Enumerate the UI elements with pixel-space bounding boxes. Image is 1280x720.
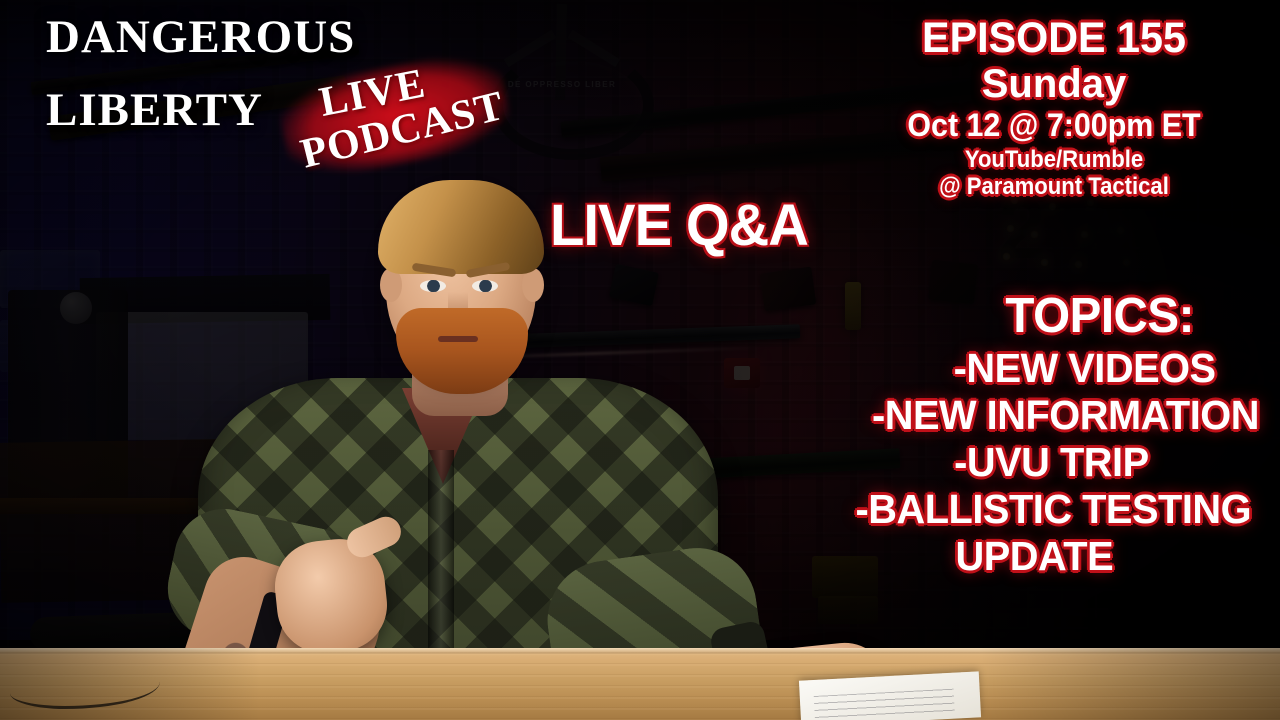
topics-block: TOPICS: -NEW VIDEOS -NEW INFORMATION -UV… — [796, 292, 1266, 583]
topic-item: -BALLISTIC TESTING — [803, 489, 1251, 530]
topic-item: UPDATE — [801, 536, 1113, 577]
topics-heading: TOPICS: — [802, 292, 1194, 341]
episode-number: EPISODE 155 — [852, 16, 1255, 61]
thumbnail-canvas: DE OPPRESSO LIBER 2 A — [0, 0, 1280, 720]
show-title-block: DANGEROUS LIBERTY LIVE PODCAST — [46, 14, 476, 164]
episode-day: Sunday — [844, 63, 1264, 105]
live-podcast-stamp: LIVE PODCAST — [282, 45, 512, 188]
show-title-line-1: DANGEROUS — [46, 14, 476, 61]
episode-info-block: EPISODE 155 Sunday Oct 12 @ 7:00pm ET Yo… — [844, 16, 1264, 199]
topic-item: -NEW INFORMATION — [803, 395, 1259, 436]
episode-datetime: Oct 12 @ 7:00pm ET — [855, 109, 1254, 143]
topic-item: -NEW VIDEOS — [802, 348, 1215, 389]
topic-item: -UVU TRIP — [801, 442, 1148, 483]
episode-platforms: YouTube/Rumble — [861, 147, 1247, 172]
live-qa-headline: LIVE Q&A — [550, 192, 808, 259]
text-overlay-layer: DANGEROUS LIBERTY LIVE PODCAST EPISODE 1… — [0, 0, 1280, 720]
episode-handle: @ Paramount Tactical — [861, 174, 1247, 199]
